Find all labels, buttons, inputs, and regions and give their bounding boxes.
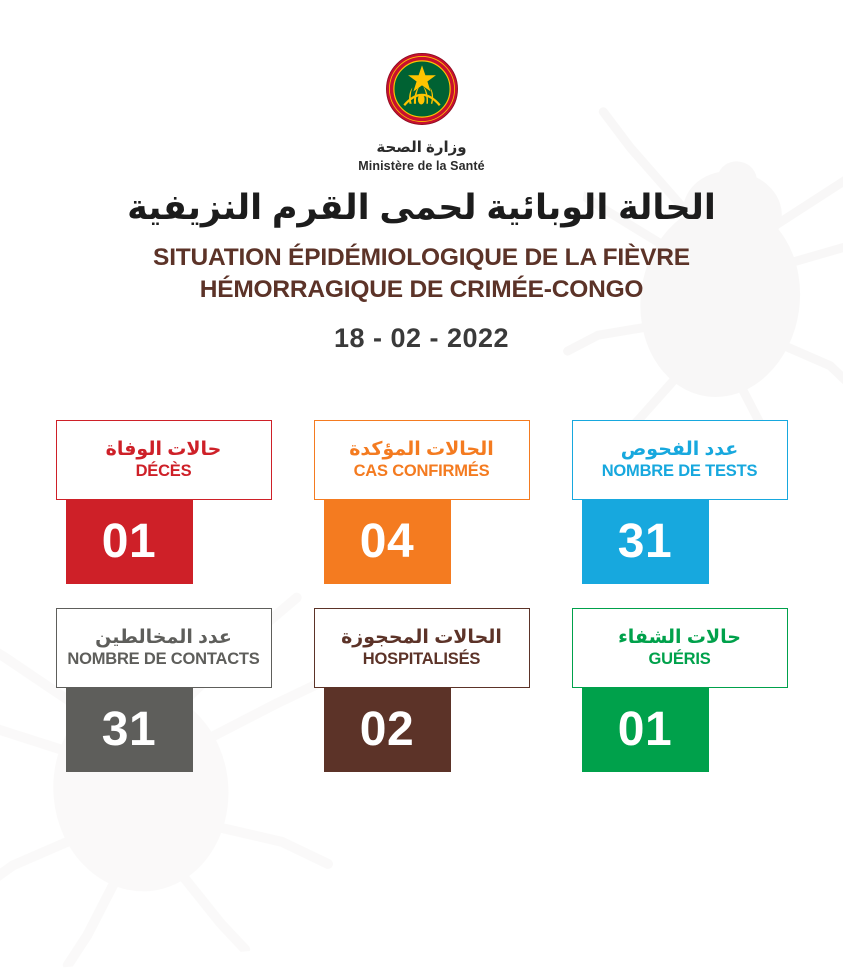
page-title-arabic: الحالة الوبائية لحمى القرم النزيفية (0, 186, 843, 230)
stat-value: 02 (360, 706, 414, 754)
stat-label-french: NOMBRE DE TESTS (602, 462, 758, 481)
stat-value: 31 (102, 706, 156, 754)
stat-label-french: CAS CONFIRMÉS (354, 462, 490, 481)
stat-value: 04 (360, 518, 414, 566)
stat-label-arabic: الحالات المؤكدة (349, 439, 494, 461)
stat-label-arabic: حالات الشفاء (618, 627, 741, 649)
stat-label-arabic: الحالات المحجوزة (341, 627, 502, 649)
ministry-name-arabic: وزارة الصحة (0, 139, 843, 157)
stat-card-contacts: عدد المخالطين NOMBRE DE CONTACTS 31 (56, 608, 272, 772)
page-title-french: SITUATION ÉPIDÉMIOLOGIQUE DE LA FIÈVRE H… (0, 242, 843, 306)
mauritania-ministry-of-health-emblem-icon (385, 52, 459, 126)
stat-card-header: الحالات المؤكدة CAS CONFIRMÉS (314, 420, 530, 500)
stat-card-header: حالات الوفاة DÉCÈS (56, 420, 272, 500)
stat-card-deaths: حالات الوفاة DÉCÈS 01 (56, 420, 272, 584)
stat-value: 01 (102, 518, 156, 566)
stat-card-hospitalized: الحالات المحجوزة HOSPITALISÉS 02 (314, 608, 530, 772)
stat-value-block: 02 (324, 688, 451, 772)
stat-card-header: حالات الشفاء GUÉRIS (572, 608, 788, 688)
stat-label-french: HOSPITALISÉS (363, 650, 480, 669)
page-title-french-line1: SITUATION ÉPIDÉMIOLOGIQUE DE LA FIÈVRE (0, 242, 843, 274)
page-title-french-line2: HÉMORRAGIQUE DE CRIMÉE-CONGO (0, 274, 843, 306)
stat-value-block: 01 (582, 688, 709, 772)
ministry-name-french: Ministère de la Santé (0, 159, 843, 173)
report-date: 18 - 02 - 2022 (0, 323, 843, 354)
statistics-row-1: حالات الوفاة DÉCÈS 01 الحالات المؤكدة CA… (0, 420, 843, 584)
stat-card-header: الحالات المحجوزة HOSPITALISÉS (314, 608, 530, 688)
ministry-branding: وزارة الصحة Ministère de la Santé (0, 52, 843, 173)
stat-value: 31 (618, 518, 672, 566)
stat-label-arabic: عدد الفحوص (621, 439, 738, 461)
stat-value: 01 (618, 706, 672, 754)
stat-label-french: NOMBRE DE CONTACTS (67, 650, 259, 669)
statistics-row-2: عدد المخالطين NOMBRE DE CONTACTS 31 الحا… (0, 608, 843, 772)
stat-card-header: عدد الفحوص NOMBRE DE TESTS (572, 420, 788, 500)
stat-value-block: 31 (582, 500, 709, 584)
statistics-grid: حالات الوفاة DÉCÈS 01 الحالات المؤكدة CA… (0, 420, 843, 772)
stat-card-tests: عدد الفحوص NOMBRE DE TESTS 31 (572, 420, 788, 584)
stat-label-arabic: حالات الوفاة (106, 439, 222, 461)
stat-value-block: 04 (324, 500, 451, 584)
stat-label-french: DÉCÈS (136, 462, 192, 481)
stat-card-recovered: حالات الشفاء GUÉRIS 01 (572, 608, 788, 772)
stat-value-block: 31 (66, 688, 193, 772)
page-title-block: الحالة الوبائية لحمى القرم النزيفية SITU… (0, 186, 843, 354)
stat-card-confirmed-cases: الحالات المؤكدة CAS CONFIRMÉS 04 (314, 420, 530, 584)
stat-label-french: GUÉRIS (648, 650, 710, 669)
stat-value-block: 01 (66, 500, 193, 584)
stat-label-arabic: عدد المخالطين (95, 627, 232, 649)
stat-card-header: عدد المخالطين NOMBRE DE CONTACTS (56, 608, 272, 688)
